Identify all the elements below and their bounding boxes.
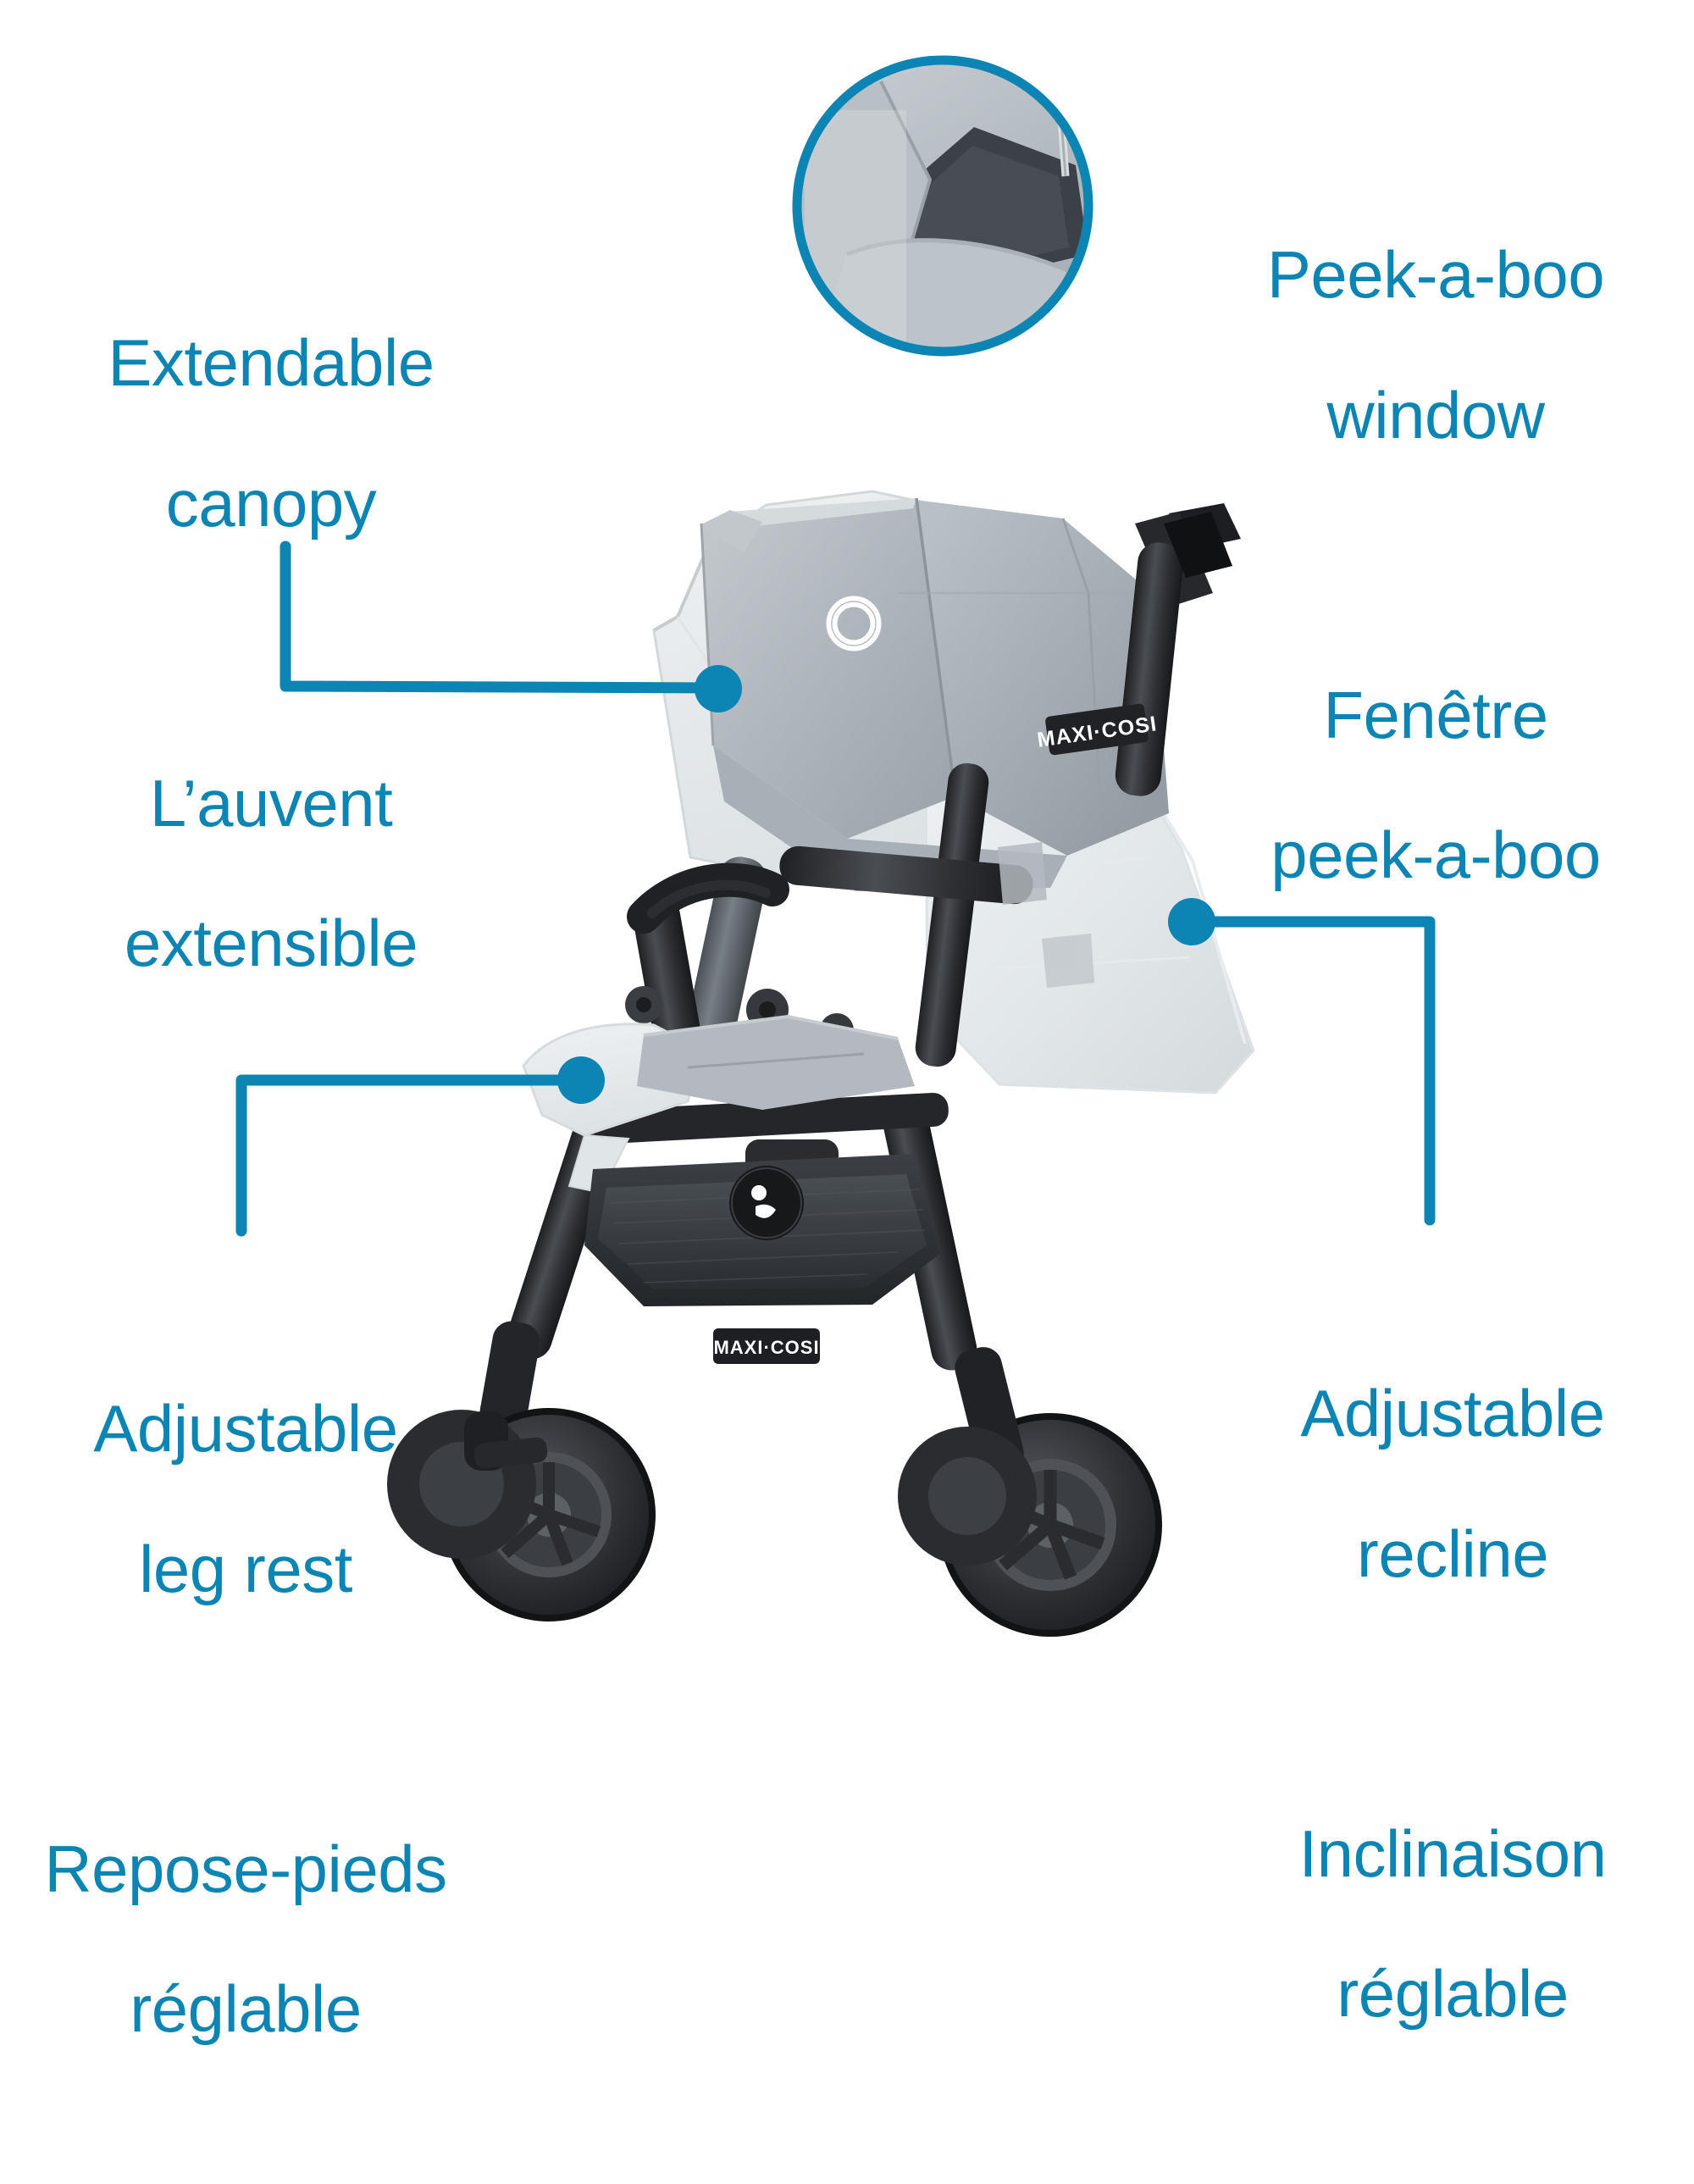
callout-dot-leg-rest <box>557 1056 605 1104</box>
callout-label-recline-fr-line2: réglable <box>1215 1959 1690 2029</box>
callout-label-leg-rest-fr-line2: réglable <box>8 1974 483 2044</box>
callout-label-leg-rest-fr-line1: Repose-pieds <box>8 1834 483 1904</box>
callout-line-leg-rest <box>241 1080 581 1231</box>
callout-line-recline <box>1192 922 1430 1220</box>
callout-lines <box>0 0 1694 1694</box>
infographic-canvas: MAXI·COSI <box>0 0 1694 1694</box>
callout-dot-recline <box>1168 898 1215 945</box>
callout-dot-canopy <box>695 665 742 712</box>
callout-label-leg-rest-fr: Repose-pieds réglable <box>8 1764 483 2114</box>
callout-label-recline-fr: Inclinaison réglable <box>1215 1749 1690 2098</box>
callout-line-canopy <box>285 546 718 688</box>
callout-label-recline-fr-line1: Inclinaison <box>1215 1819 1690 1889</box>
